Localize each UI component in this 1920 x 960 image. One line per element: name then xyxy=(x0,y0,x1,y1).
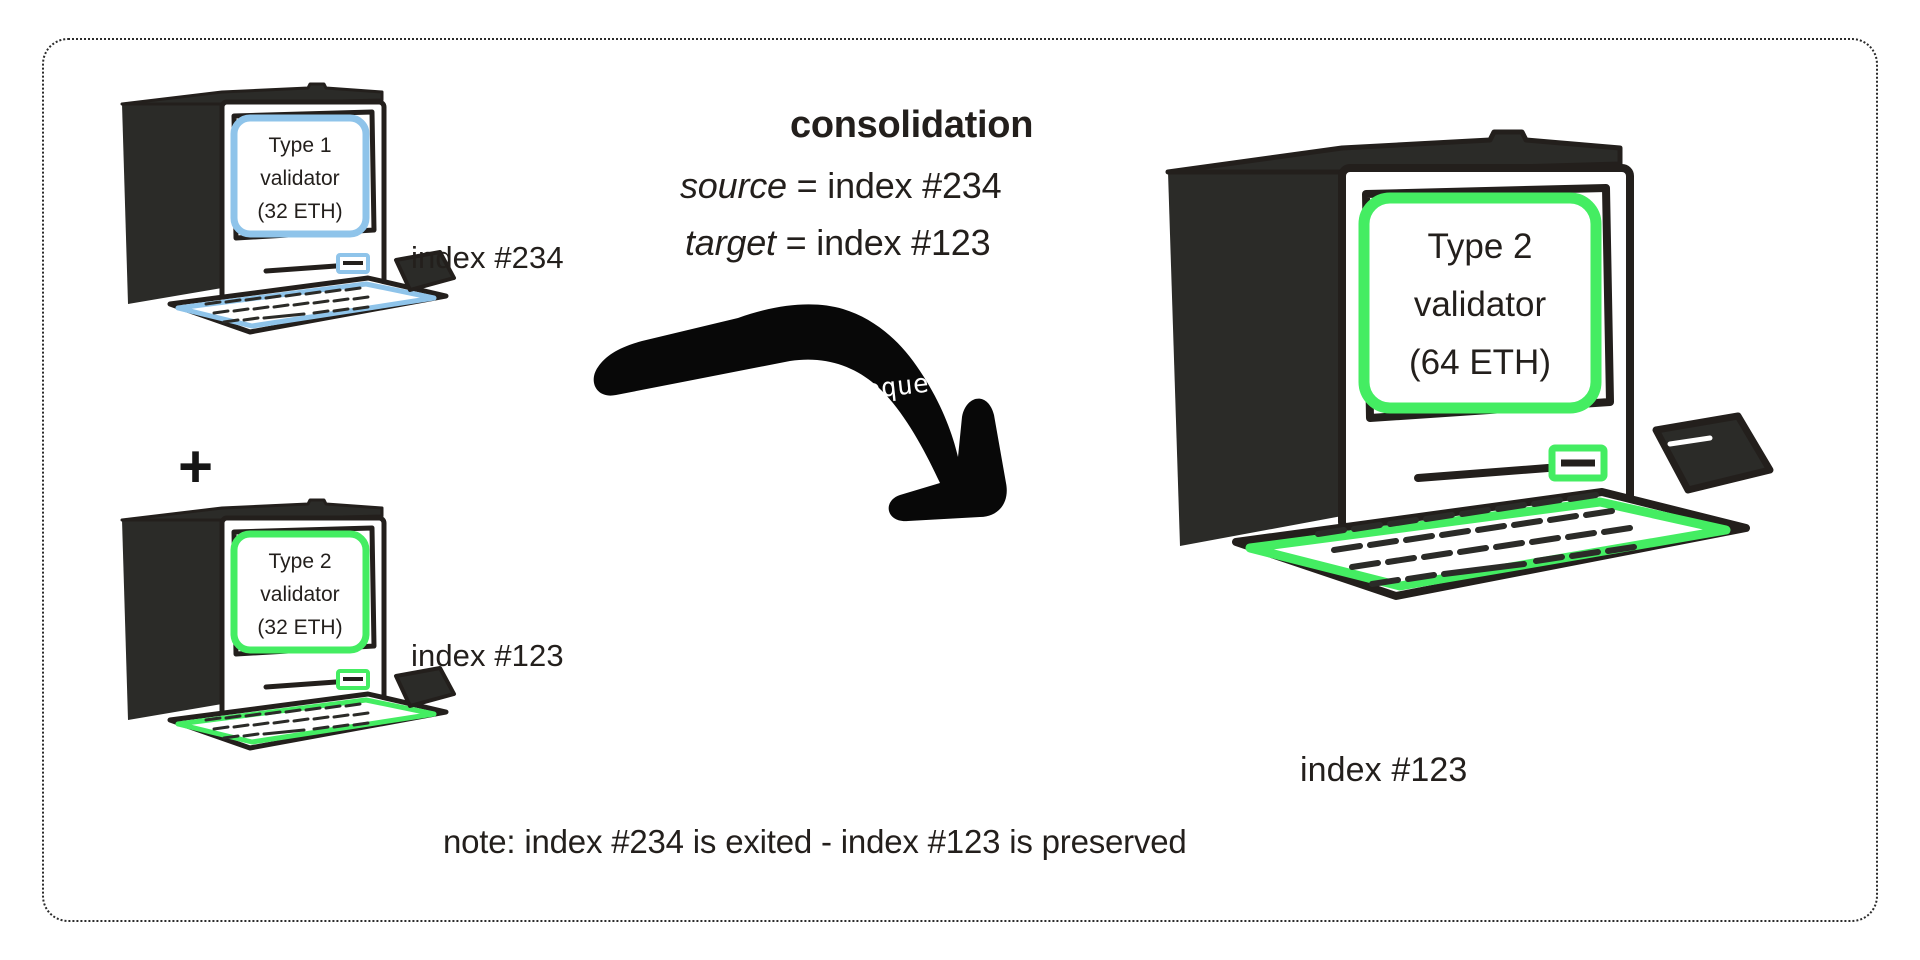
footer-note: note: index #234 is exited - index #123 … xyxy=(443,823,1187,862)
computer-side-panel xyxy=(122,92,222,304)
screen-line-3: (32 ETH) xyxy=(257,616,342,639)
source-key: source xyxy=(680,165,787,206)
source-validator-type1-computer: Type 1 validator (32 ETH) xyxy=(110,82,470,342)
result-validator-computer: Type 2 validator (64 ETH) xyxy=(1150,130,1810,650)
source-assignment-line: source = index #234 xyxy=(680,165,1001,207)
consolidation-title: consolidation xyxy=(790,103,1033,148)
target-equals: = xyxy=(776,222,816,263)
screen-line-2: validator xyxy=(1414,285,1547,324)
screen-line-1: Type 2 xyxy=(268,550,331,573)
screen-line-3: (32 ETH) xyxy=(257,200,342,223)
target-assignment-line: target = index #123 xyxy=(685,222,990,264)
screen-line-3: (64 ETH) xyxy=(1409,343,1551,382)
target-value: index #123 xyxy=(816,222,990,263)
computer-side-panel xyxy=(122,508,222,720)
computer-side-panel xyxy=(1168,148,1342,546)
screen-line-1: Type 1 xyxy=(268,134,331,157)
source-validator-type2-computer: Type 2 validator (32 ETH) xyxy=(110,498,470,758)
source-validator-type1-index-label: index #234 xyxy=(411,240,564,277)
result-validator-index-label: index #123 xyxy=(1300,750,1467,790)
mouse-icon xyxy=(1656,416,1770,490)
diagram-canvas: Type 1 validator (32 ETH) index #234 + xyxy=(0,0,1920,960)
source-equals: = xyxy=(787,165,827,206)
screen-line-2: validator xyxy=(260,167,339,190)
source-validator-type2-index-label: index #123 xyxy=(411,638,564,675)
plus-operator: + xyxy=(178,432,213,503)
source-value: index #234 xyxy=(827,165,1001,206)
screen-line-2: validator xyxy=(260,583,339,606)
screen-line-1: Type 2 xyxy=(1427,227,1532,266)
target-key: target xyxy=(685,222,776,263)
